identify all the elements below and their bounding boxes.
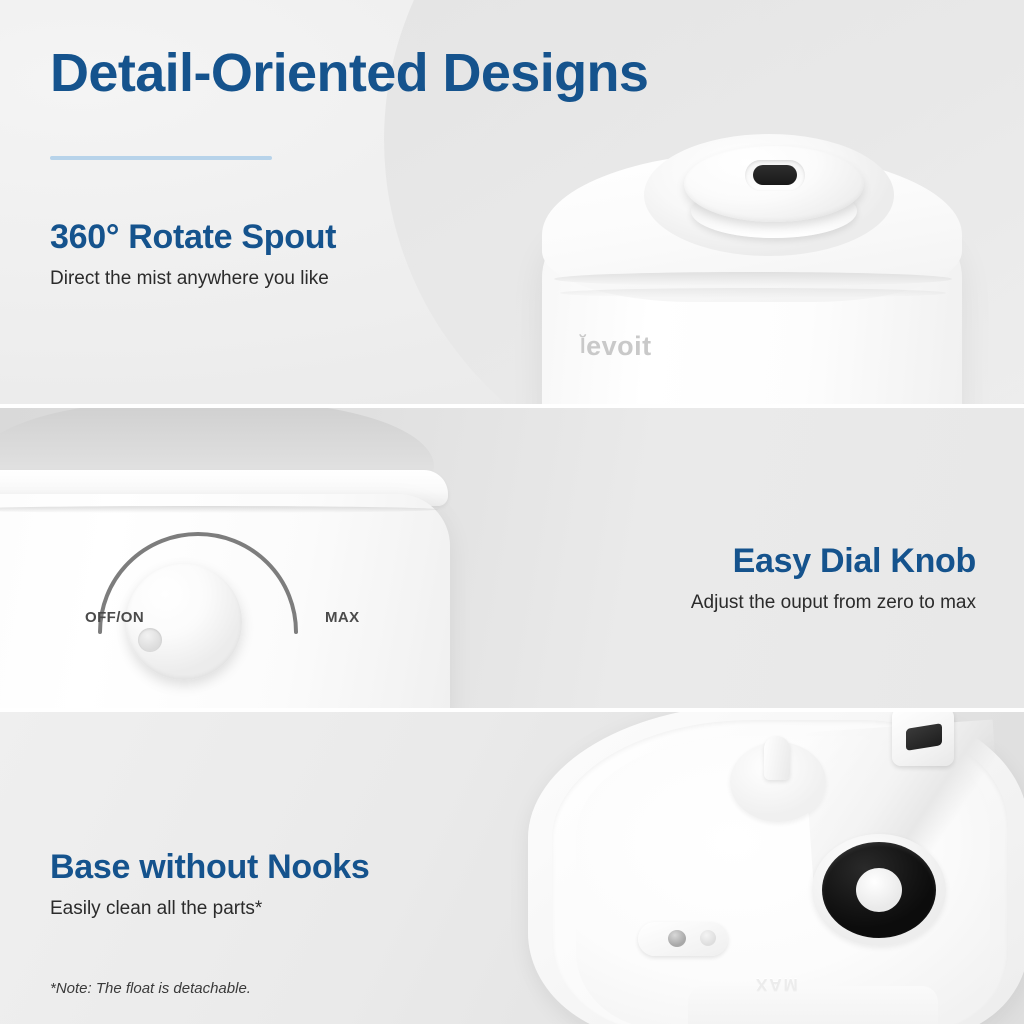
humidifier-seam-line [554, 272, 952, 286]
base-front-shelf [688, 986, 938, 1024]
feature-subtitle: Adjust the ouput from zero to max [691, 592, 976, 614]
float-post [764, 736, 790, 780]
feature-heading: Easy Dial Knob [691, 542, 976, 581]
feature-block-base: Base without Nooks Easily clean all the … [50, 848, 370, 920]
feature-heading: Base without Nooks [50, 848, 370, 887]
feature-subtitle: Easily clean all the parts* [50, 898, 370, 920]
footnote: *Note: The float is detachable. [50, 980, 251, 997]
bracket-hole [700, 930, 716, 946]
feature-subtitle: Direct the mist anywhere you like [50, 268, 336, 290]
panel-base-without-nooks: MAX Base without Nooks Easily clean all … [0, 712, 1024, 1024]
dial-min-label: OFF/ON [85, 609, 144, 626]
panel-rotate-spout: l̆evoit Detail-Oriented Designs 360° Rot… [0, 0, 1024, 405]
humidifier-seam-line-secondary [560, 288, 946, 298]
feature-block-dial-knob: Easy Dial Knob Adjust the ouput from zer… [691, 542, 976, 614]
dial-max-label: MAX [325, 609, 360, 626]
accent-rule [50, 156, 272, 160]
brand-logo: l̆evoit [580, 331, 652, 362]
feature-heading: 360° Rotate Spout [50, 218, 336, 257]
panel-dial-knob: OFF/ON MAX Easy Dial Knob Adjust the oup… [0, 408, 1024, 708]
feature-block-rotate-spout: 360° Rotate Spout Direct the mist anywhe… [50, 218, 336, 290]
humidifier-top-image: l̆evoit [524, 112, 1024, 405]
dial-knob-indicator [138, 628, 162, 652]
page-title: Detail-Oriented Designs [50, 42, 648, 104]
infographic-page: l̆evoit Detail-Oriented Designs 360° Rot… [0, 0, 1024, 1024]
mist-outlet-slot [753, 165, 797, 185]
humidifier-base-image: MAX [512, 712, 1024, 1024]
max-fill-line-label: MAX [754, 974, 798, 994]
humidifier-tank-image [0, 410, 488, 708]
transducer-core [856, 868, 902, 912]
brand-logo-text: evoit [586, 331, 652, 361]
brand-logo-breve: l̆ [580, 336, 586, 359]
bracket-screw [668, 930, 686, 947]
